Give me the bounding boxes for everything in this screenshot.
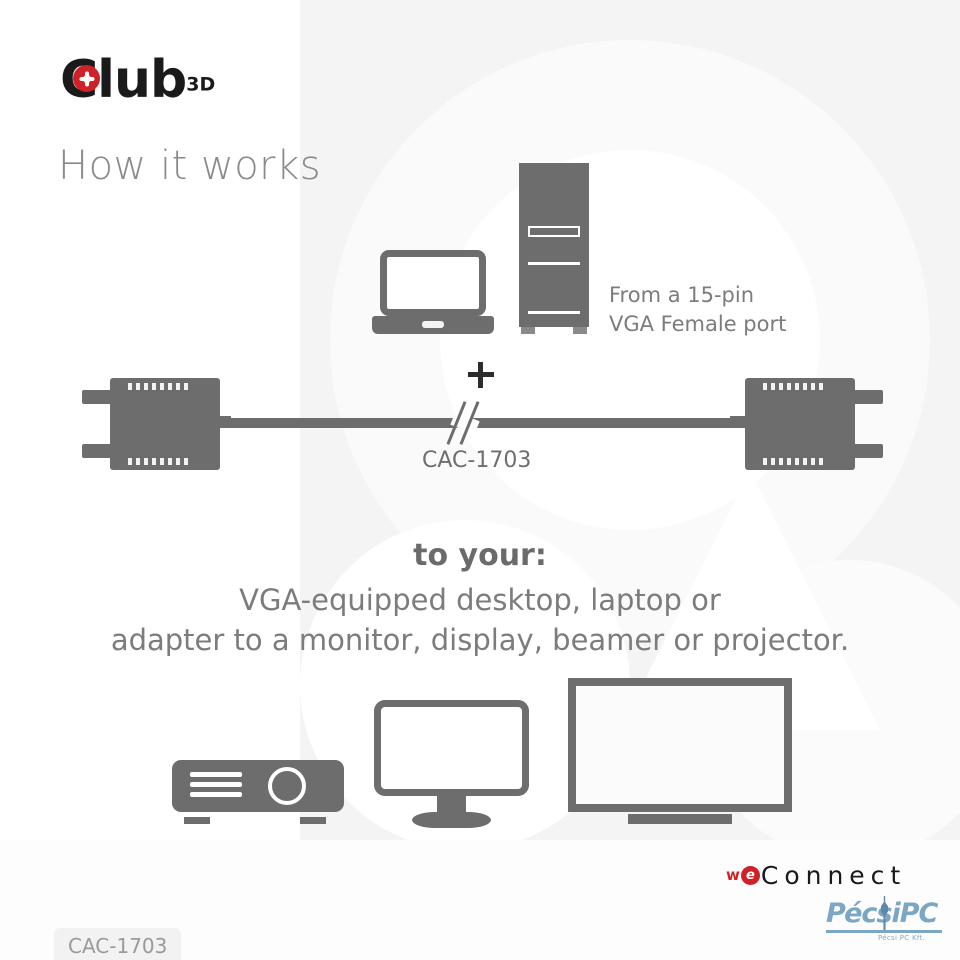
tower-divider-line xyxy=(528,262,580,265)
cable-part-number: CAC-1703 xyxy=(422,448,531,473)
logo-superscript: 3D xyxy=(186,74,215,96)
projector-foot-part xyxy=(184,817,210,824)
projector-vent-part xyxy=(190,782,242,787)
page-title: How it works xyxy=(58,143,321,189)
tower-foot-part xyxy=(521,327,535,334)
cable-line xyxy=(212,418,752,428)
tower-foot-part xyxy=(573,327,587,334)
projector-lens-part xyxy=(268,767,306,805)
vga-pins-top xyxy=(763,383,823,390)
weconnect-logo: w e Connect xyxy=(726,858,906,892)
target-description: VGA-equipped desktop, laptop or adapter … xyxy=(0,580,960,660)
projector-icon xyxy=(172,760,344,832)
vga-connector-left-icon xyxy=(82,378,227,470)
tv-icon xyxy=(568,678,792,826)
target-heading: to your: xyxy=(0,538,960,573)
tv-stand-part xyxy=(628,814,732,824)
weconnect-e-icon: e xyxy=(741,866,760,885)
laptop-screen-part xyxy=(380,250,486,316)
pecsipc-subtext: Pécsi PC Kft. xyxy=(878,934,925,942)
pecsipc-underline xyxy=(826,930,942,933)
weconnect-wordmark: Connect xyxy=(761,861,906,890)
vga-body-part xyxy=(745,378,855,470)
pecsipc-wordmark: PécsiPC xyxy=(826,898,937,929)
vga-pins-bottom xyxy=(763,458,823,465)
vga-cable-stub xyxy=(215,416,231,426)
club3d-emblem-icon xyxy=(73,65,100,92)
laptop-trackpad-part xyxy=(422,321,444,328)
tower-divider-line xyxy=(528,311,580,314)
laptop-icon xyxy=(372,250,494,334)
tower-drive-bay-part xyxy=(528,226,580,237)
part-number-badge: CAC-1703 xyxy=(54,928,181,960)
tv-screen-part xyxy=(568,678,792,812)
plus-icon xyxy=(468,362,494,388)
monitor-screen-part xyxy=(374,700,529,796)
club3d-emblem-dot-icon xyxy=(83,75,91,83)
vga-body-part xyxy=(110,378,220,470)
vga-pins-bottom xyxy=(128,458,188,465)
monitor-icon xyxy=(374,700,529,828)
desktop-tower-icon xyxy=(519,163,589,335)
projector-vent-part xyxy=(190,772,242,777)
monitor-base-part xyxy=(412,812,491,828)
vga-connector-right-icon xyxy=(738,378,883,470)
pecsipc-watermark: PécsiPC Pécsi PC Kft. xyxy=(826,898,942,946)
tower-body-part xyxy=(519,163,589,327)
vga-pins-top xyxy=(128,383,188,390)
weconnect-w-mark: w xyxy=(726,866,740,884)
product-diagram-page: Club3D How it works From a 15-pin VGA Fe… xyxy=(0,0,960,960)
projector-vent-part xyxy=(190,792,242,797)
source-port-note: From a 15-pin VGA Female port xyxy=(609,281,786,339)
projector-foot-part xyxy=(300,817,326,824)
club3d-logo: Club3D xyxy=(60,52,280,108)
vga-cable-stub xyxy=(730,416,746,426)
